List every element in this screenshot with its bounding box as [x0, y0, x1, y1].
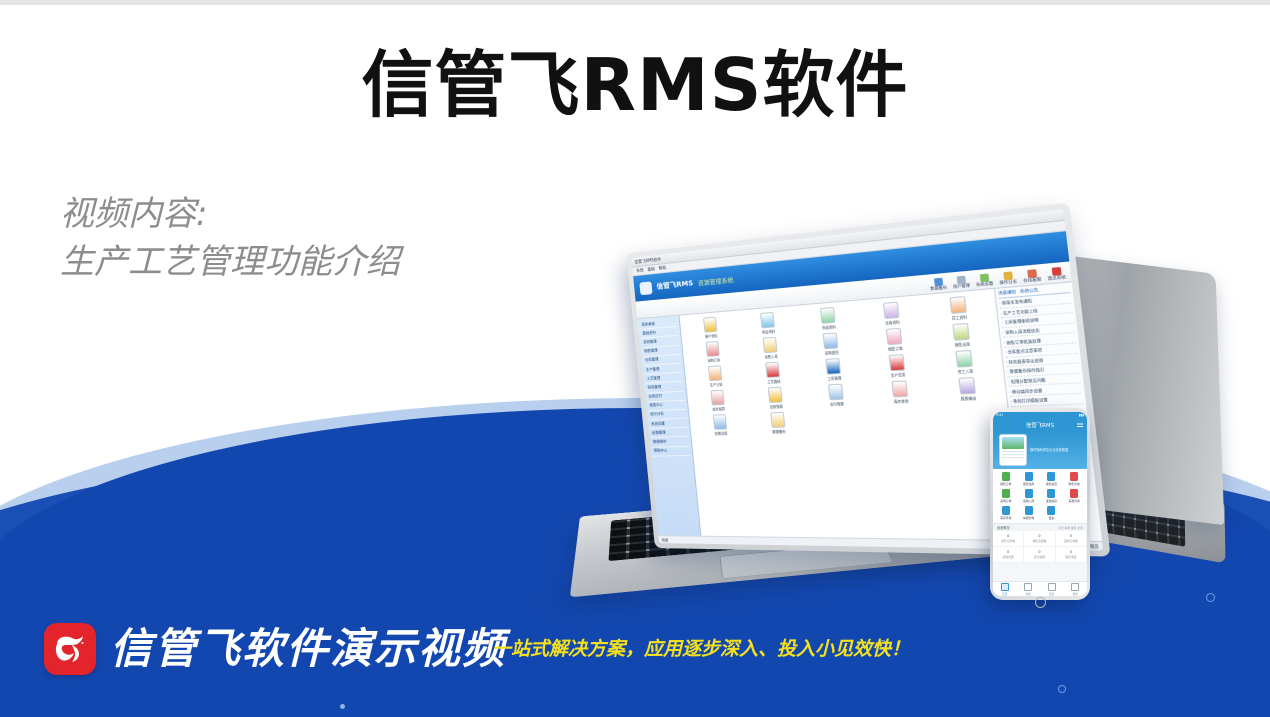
- menu-item-system[interactable]: 系统: [636, 267, 644, 274]
- module-glyph-icon: [825, 358, 841, 375]
- module-glyph-icon: [768, 387, 783, 403]
- toolbar-button-2[interactable]: 系统设置: [975, 273, 994, 288]
- decorative-dot-1: [1206, 593, 1215, 602]
- app-subtitle: 资源管理系统: [697, 275, 733, 288]
- mobile-stat-5: 0库存金额: [1056, 547, 1087, 563]
- module-icon-2[interactable]: 商品资料: [797, 305, 859, 332]
- module-label: 员工资料: [951, 314, 967, 321]
- mobile-tab-3[interactable]: 我的: [1064, 582, 1088, 596]
- module-icon-5[interactable]: 采购订单: [685, 339, 741, 364]
- mobile-module-icon: [1070, 472, 1078, 481]
- mobile-section-filters[interactable]: 今日 本周 本月 全年: [1058, 526, 1083, 530]
- toolbar-label: 用户管理: [953, 283, 971, 290]
- module-glyph-icon: [765, 362, 780, 378]
- module-label: 完工入库: [957, 368, 973, 374]
- module-glyph-icon: [949, 296, 967, 314]
- mobile-module-label: 销售出库: [1023, 482, 1034, 486]
- module-icon-0[interactable]: 客户资料: [683, 315, 739, 340]
- mobile-app-title: 信管飞RMS: [1026, 421, 1054, 429]
- app-logo-icon: [639, 281, 652, 295]
- footer-bar: 信管飞软件演示视频 一站式解决方案，应用逐步深入、投入小见效快！: [0, 607, 1270, 717]
- module-glyph-icon: [952, 323, 970, 341]
- mobile-module-icon: [1025, 472, 1033, 481]
- mobile-module-icon: [1025, 506, 1033, 515]
- mobile-tab-2[interactable]: 报表: [1040, 582, 1064, 596]
- chart-icon: [1048, 583, 1056, 591]
- mobile-stat-value: 0: [1038, 550, 1040, 554]
- right-tab-0[interactable]: 消息通知: [998, 289, 1017, 296]
- mobile-module-icon: [1047, 506, 1055, 515]
- mobile-module-4[interactable]: 采购订单: [995, 489, 1017, 503]
- toolbar-button-5[interactable]: 退出系统: [1046, 267, 1066, 283]
- module-icon-15[interactable]: 成本核算: [690, 389, 746, 413]
- module-glyph-icon: [710, 390, 724, 406]
- device-mockup-group: 信管飞RMS软件 系统 基础 帮助 信管飞RMS 资源管理系统 数据备份用户管理…: [575, 248, 1270, 648]
- mobile-module-icon: [1002, 506, 1010, 515]
- mobile-module-2[interactable]: 销售退货: [1041, 472, 1063, 486]
- toolbar-button-3[interactable]: 操作日志: [998, 271, 1017, 286]
- app-name: 信管飞RMS: [656, 278, 693, 292]
- presentation-slide: 信管飞RMS软件 视频内容: 生产工艺管理功能介绍 信管飞RMS软件 系统 基础: [0, 0, 1270, 717]
- module-icon-19[interactable]: 报表输出: [933, 376, 1002, 403]
- mobile-stat-value: 0: [1038, 534, 1040, 538]
- module-label: 销售订单: [888, 345, 903, 351]
- module-icon-16[interactable]: 应收账款: [746, 386, 805, 411]
- mobile-stat-value: 0: [1007, 550, 1009, 554]
- mobile-stat-label: 采购订单数: [1064, 539, 1078, 543]
- mobile-module-label: 销售查询: [1069, 482, 1080, 486]
- mobile-module-10[interactable]: 更多: [1041, 506, 1063, 520]
- mobile-module-label: 更多: [1049, 516, 1055, 520]
- module-label: 工序管理: [827, 375, 841, 381]
- toolbar-label: 在线客服: [1023, 277, 1042, 284]
- mobile-stat-value: 0: [1070, 550, 1072, 554]
- phone-status-icons: ▮▮▮: [1079, 413, 1084, 417]
- module-glyph-icon: [958, 377, 976, 395]
- mobile-module-label: 销售订单: [1000, 482, 1011, 486]
- module-icon-7[interactable]: 采购退货: [800, 331, 862, 357]
- module-label: 客户资料: [705, 333, 718, 339]
- user-icon: [1071, 583, 1079, 591]
- phone-device: 9:41 ▮▮▮ 信管飞RMS 随时随地掌控企业经营数据 销售订单销售出库销售退…: [990, 408, 1090, 600]
- right-tab-1[interactable]: 系统公告: [1020, 288, 1039, 295]
- module-icon-1[interactable]: 供应商料: [739, 310, 798, 336]
- phone-status-time: 9:41: [996, 413, 1003, 417]
- mobile-stat-3: 0应收金额: [993, 547, 1024, 563]
- mobile-tab-label: 单据: [1026, 592, 1031, 596]
- sidebar-item-14[interactable]: 帮助中心: [652, 446, 691, 456]
- toolbar-label: 退出系统: [1047, 275, 1066, 282]
- module-glyph-icon: [705, 341, 719, 357]
- document-icon: [1024, 583, 1032, 591]
- mobile-stat-1: 0销售出库数: [1024, 531, 1055, 547]
- module-label: 仓库资料: [885, 319, 900, 326]
- module-icon-8[interactable]: 销售订单: [862, 326, 928, 353]
- mobile-module-label: 采购订单: [1000, 499, 1011, 503]
- toolbar-button-1[interactable]: 用户管理: [952, 275, 970, 290]
- module-icon-10[interactable]: 生产计划: [688, 364, 744, 388]
- module-glyph-icon: [889, 354, 906, 371]
- footer-tagline: 一站式解决方案，应用逐步深入、投入小见效快！: [492, 634, 910, 661]
- mobile-module-icon: [1070, 489, 1078, 498]
- toolbar-label: 操作日志: [999, 279, 1017, 286]
- module-label: 工艺路线: [767, 378, 781, 384]
- status-left: 就绪: [661, 537, 668, 542]
- toolbar-label: 系统设置: [976, 281, 994, 288]
- module-label: 销售出库: [954, 341, 970, 348]
- module-icon-grid: 客户资料供应商料商品资料仓库资料员工资料采购订单采购入库采购退货销售订单销售出库…: [683, 294, 1006, 437]
- module-glyph-icon: [891, 380, 908, 397]
- module-glyph-icon: [713, 414, 727, 430]
- mobile-app-screen: 9:41 ▮▮▮ 信管飞RMS 随时随地掌控企业经营数据 销售订单销售出库销售退…: [993, 412, 1087, 596]
- module-icon-9[interactable]: 销售出库: [927, 321, 996, 349]
- subtitle-line-2: 生产工艺管理功能介绍: [60, 238, 400, 286]
- mobile-stat-0: 0销售订单数: [993, 531, 1024, 547]
- mobile-tab-0[interactable]: 首页: [993, 582, 1017, 596]
- module-icon-4[interactable]: 员工资料: [924, 294, 993, 323]
- window-title: 信管飞RMS软件: [634, 256, 661, 265]
- mobile-tab-label: 我的: [1073, 592, 1078, 596]
- module-glyph-icon: [823, 332, 839, 349]
- module-label: 生产计划: [710, 382, 723, 388]
- module-glyph-icon: [708, 365, 722, 381]
- banner-phone-illustration-icon: [999, 434, 1027, 466]
- mobile-stat-label: 库存金额: [1065, 555, 1076, 559]
- module-label: 采购订单: [707, 357, 720, 363]
- top-gray-strip: [0, 0, 1270, 5]
- mobile-module-label: 销售退货: [1046, 482, 1057, 486]
- module-icon-20[interactable]: 权限设置: [692, 413, 749, 436]
- mobile-module-label: 库存查询: [1000, 516, 1011, 520]
- mobile-tab-label: 报表: [1049, 592, 1054, 596]
- module-glyph-icon: [760, 312, 775, 329]
- mobile-stat-label: 应付金额: [1034, 555, 1045, 559]
- mobile-module-label: 采购退货: [1046, 499, 1057, 503]
- mobile-module-1[interactable]: 销售出库: [1018, 472, 1040, 486]
- module-icon-13[interactable]: 生产任务: [865, 353, 931, 380]
- brand-block: 信管飞软件演示视频: [44, 623, 506, 675]
- menu-item-basic[interactable]: 基础: [647, 266, 655, 273]
- toolbar-button-0[interactable]: 数据备份: [929, 277, 947, 292]
- mobile-tabbar: 首页单据报表我的: [993, 581, 1087, 596]
- mobile-stat-value: 0: [1070, 534, 1072, 538]
- module-label: 权限设置: [715, 430, 728, 435]
- module-label: 应付账款: [830, 401, 845, 407]
- module-glyph-icon: [886, 328, 903, 345]
- module-label: 应收账款: [770, 403, 784, 409]
- mobile-module-5[interactable]: 采购入库: [1018, 489, 1040, 503]
- mobile-stat-4: 0应付金额: [1024, 547, 1055, 563]
- mobile-module-0[interactable]: 销售订单: [995, 472, 1017, 486]
- module-icon-3[interactable]: 仓库资料: [859, 300, 924, 328]
- mobile-tab-label: 首页: [1002, 592, 1007, 596]
- module-label: 采购入库: [764, 353, 778, 359]
- module-icon-12[interactable]: 工序管理: [803, 357, 865, 383]
- mobile-module-7[interactable]: 采购查询: [1063, 489, 1085, 503]
- toolbar-button-4[interactable]: 在线客服: [1022, 269, 1041, 284]
- mobile-stat-value: 0: [1007, 534, 1009, 538]
- module-glyph-icon: [955, 350, 973, 368]
- module-glyph-icon: [820, 307, 836, 324]
- toolbar-label: 数据备份: [930, 285, 947, 292]
- module-label: 采购退货: [824, 349, 838, 355]
- module-icon-6[interactable]: 采购入库: [741, 335, 800, 361]
- mobile-module-6[interactable]: 采购退货: [1041, 489, 1063, 503]
- module-glyph-icon: [883, 302, 900, 320]
- module-icon-17[interactable]: 应付账款: [805, 382, 867, 407]
- mobile-module-9[interactable]: 单据查询: [1018, 506, 1040, 520]
- module-icon-18[interactable]: 库存查询: [868, 379, 934, 405]
- home-icon: [1001, 583, 1009, 591]
- module-label: 生产任务: [891, 372, 906, 378]
- module-label: 商品资料: [822, 324, 836, 330]
- hamburger-icon[interactable]: [1077, 422, 1083, 427]
- mobile-banner: 随时随地掌控企业经营数据: [993, 431, 1087, 469]
- mobile-module-label: 采购入库: [1023, 499, 1034, 503]
- mobile-tab-1[interactable]: 单据: [1017, 582, 1041, 596]
- banner-text: 随时随地掌控企业经营数据: [1030, 448, 1068, 453]
- mobile-module-icon: [1002, 489, 1010, 498]
- bird-flame-logo-icon: [44, 623, 96, 675]
- module-glyph-icon: [828, 384, 844, 401]
- mobile-module-icon: [1025, 489, 1033, 498]
- mobile-stat-label: 应收金额: [1003, 555, 1014, 559]
- page-title: 信管飞RMS软件: [0, 48, 1270, 124]
- mobile-app-header: 信管飞RMS: [993, 418, 1087, 431]
- module-glyph-icon: [763, 337, 778, 353]
- brand-name: 信管飞软件演示视频: [110, 628, 506, 670]
- module-glyph-icon: [770, 412, 785, 428]
- mobile-module-label: 采购查询: [1069, 499, 1080, 503]
- subtitle-block: 视频内容: 生产工艺管理功能介绍: [60, 190, 400, 287]
- app-main-desktop: 客户资料供应商料商品资料仓库资料员工资料采购订单采购入库采购退货销售订单销售出库…: [679, 289, 1022, 540]
- mobile-module-label: 单据查询: [1023, 516, 1034, 520]
- module-label: 库存查询: [893, 398, 908, 404]
- module-glyph-icon: [703, 317, 717, 333]
- mobile-stat-label: 销售订单数: [1001, 539, 1015, 543]
- mobile-section-title: 经营概况: [997, 525, 1010, 530]
- mobile-module-8[interactable]: 库存查询: [995, 506, 1017, 520]
- menu-item-help[interactable]: 帮助: [658, 265, 666, 272]
- mobile-module-icon: [1047, 472, 1055, 481]
- module-icon-21[interactable]: 数据备份: [749, 411, 808, 435]
- module-icon-14[interactable]: 完工入库: [930, 348, 999, 375]
- module-label: 数据备份: [772, 429, 786, 435]
- module-label: 供应商料: [762, 328, 776, 334]
- subtitle-line-1: 视频内容:: [60, 190, 400, 238]
- mobile-section-header: 经营概况 今日 本周 本月 全年: [993, 523, 1087, 531]
- mobile-module-icon: [1047, 489, 1055, 498]
- mobile-stat-2: 0采购订单数: [1056, 531, 1087, 547]
- mobile-stats-grid: 0销售订单数0销售出库数0采购订单数0应收金额0应付金额0库存金额: [993, 531, 1087, 563]
- mobile-module-icon: [1002, 472, 1010, 481]
- module-label: 报表输出: [960, 395, 976, 401]
- module-icon-11[interactable]: 工艺路线: [744, 360, 803, 385]
- module-label: 成本核算: [712, 406, 725, 412]
- mobile-module-3[interactable]: 销售查询: [1063, 472, 1085, 486]
- mobile-stat-label: 销售出库数: [1032, 539, 1046, 543]
- mobile-icon-grid: 销售订单销售出库销售退货销售查询采购订单采购入库采购退货采购查询库存查询单据查询…: [993, 469, 1087, 523]
